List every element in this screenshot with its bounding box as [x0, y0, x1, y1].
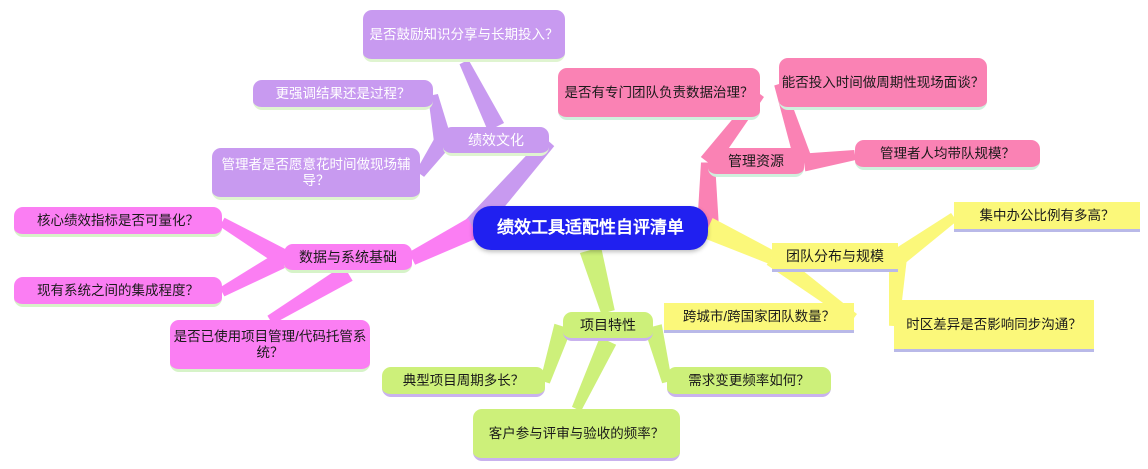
connector [220, 251, 289, 297]
leaf-label: 集中办公比例有多高？ [954, 208, 1140, 224]
leaf-label: 更强调结果还是过程？ [253, 86, 433, 102]
connector [580, 247, 615, 314]
leaf-label: 管理者人均带队规模？ [855, 146, 1040, 162]
connector [460, 60, 505, 131]
branch-label: 数据与系统基础 [284, 249, 412, 266]
leaf-node[interactable]: 跨城市/跨国家团队数量？ [664, 303, 854, 333]
leaf-label: 典型项目周期多长？ [382, 373, 545, 389]
central-topic-label: 绩效工具适配性自评清单 [473, 218, 708, 238]
branch-node-performance-culture[interactable]: 绩效文化 [443, 127, 549, 156]
connector [572, 337, 616, 411]
branch-label: 绩效文化 [443, 132, 549, 149]
connector [893, 213, 957, 265]
leaf-label: 能否投入时间做周期性现场面谈？ [779, 75, 987, 91]
leaf-node[interactable]: 现有系统之间的集成程度？ [14, 277, 222, 307]
branch-label: 管理资源 [708, 153, 804, 170]
branch-label: 项目特性 [563, 317, 653, 334]
leaf-label: 核心绩效指标是否可量化？ [14, 213, 222, 229]
connector [409, 218, 478, 265]
leaf-node[interactable]: 需求变更频率如何？ [667, 367, 831, 397]
leaf-node[interactable]: 更强调结果还是过程？ [253, 80, 433, 110]
connector [267, 265, 352, 324]
leaf-label: 是否有专门团队负责数据治理？ [558, 85, 760, 101]
leaf-node[interactable]: 核心绩效指标是否可量化？ [14, 207, 222, 237]
leaf-label: 是否鼓励知识分享与长期投入？ [363, 27, 565, 43]
leaf-node[interactable]: 集中办公比例有多高？ [954, 202, 1140, 232]
leaf-node[interactable]: 典型项目周期多长？ [382, 367, 545, 397]
leaf-label: 时区差异是否影响同步沟通？ [894, 317, 1094, 333]
branch-node-team-distribution[interactable]: 团队分布与规模 [772, 243, 898, 272]
connector [803, 150, 856, 171]
leaf-node[interactable]: 时区差异是否影响同步沟通？ [894, 300, 1094, 352]
leaf-label: 现有系统之间的集成程度？ [14, 283, 222, 299]
branch-node-management-resources[interactable]: 管理资源 [708, 148, 804, 177]
branch-node-data-system-foundation[interactable]: 数据与系统基础 [284, 244, 412, 273]
central-topic-node[interactable]: 绩效工具适配性自评清单 [473, 206, 708, 250]
leaf-label: 是否已使用项目管理/代码托管系统？ [170, 329, 370, 361]
leaf-label: 管理者是否愿意花时间做现场辅导？ [212, 157, 420, 189]
leaf-label: 客户参与评审与验收的频率？ [473, 426, 680, 442]
leaf-node[interactable]: 管理者人均带队规模？ [855, 140, 1040, 170]
leaf-node[interactable]: 是否有专门团队负责数据治理？ [558, 68, 760, 120]
leaf-label: 跨城市/跨国家团队数量？ [664, 309, 854, 325]
leaf-node[interactable]: 管理者是否愿意花时间做现场辅导？ [212, 148, 420, 200]
leaf-node[interactable]: 客户参与评审与验收的频率？ [473, 409, 680, 461]
branch-label: 团队分布与规模 [772, 248, 898, 265]
leaf-node[interactable]: 能否投入时间做周期性现场面谈？ [779, 58, 987, 110]
leaf-node[interactable]: 是否鼓励知识分享与长期投入？ [363, 10, 565, 62]
connector [703, 218, 775, 264]
leaf-node[interactable]: 是否已使用项目管理/代码托管系统？ [170, 320, 370, 372]
leaf-label: 需求变更频率如何？ [667, 373, 831, 389]
mindmap-canvas: 绩效工具适配性自评清单 绩效文化是否鼓励知识分享与长期投入？更强调结果还是过程？… [0, 0, 1148, 469]
branch-node-project-characteristics[interactable]: 项目特性 [563, 312, 653, 341]
